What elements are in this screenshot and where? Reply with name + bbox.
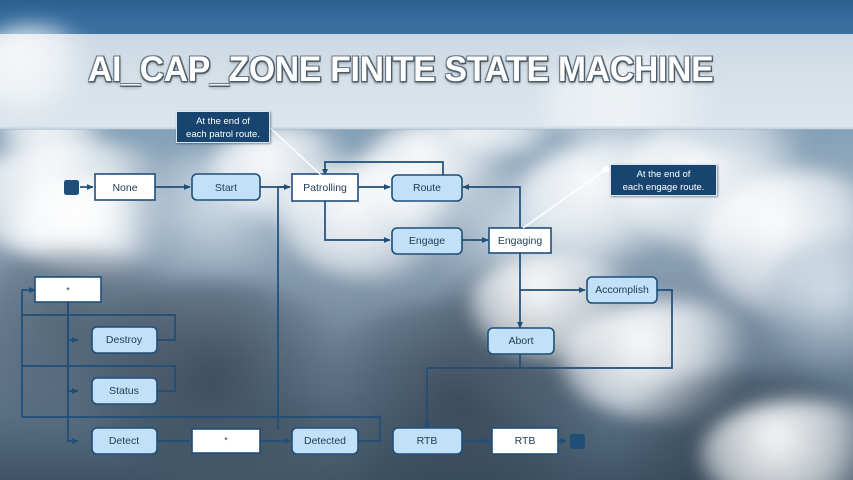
edge-patrolling-left-trunk — [278, 187, 290, 430]
node-label: * — [66, 285, 70, 295]
node-detected[interactable]: Detected — [292, 428, 358, 454]
node-label: Start — [215, 182, 237, 194]
node-any-top[interactable]: * — [35, 277, 101, 302]
node-accomplish[interactable]: Accomplish — [587, 277, 657, 303]
node-label: Accomplish — [595, 284, 649, 296]
edge-any-detect-stub — [68, 301, 78, 441]
node-patrolling[interactable]: Patrolling — [292, 174, 358, 201]
callout-line-1: At the end of — [183, 116, 263, 129]
edge-engaging-route — [463, 187, 520, 228]
node-label: None — [112, 182, 137, 194]
leader-engage — [523, 170, 605, 228]
node-label: RTB — [417, 435, 438, 447]
callout-line-2: each engage route. — [617, 182, 710, 195]
node-label: Detected — [304, 435, 346, 447]
state-machine-diagram: None Start Patrolling Route Engage Engag… — [0, 0, 853, 480]
node-label: RTB — [515, 435, 536, 447]
leader-patrol — [268, 126, 322, 176]
node-label: Engaging — [498, 235, 543, 247]
callout-engage-note[interactable]: At the end of each engage route. — [610, 164, 717, 196]
node-label: * — [224, 435, 228, 445]
node-route[interactable]: Route — [392, 175, 462, 201]
node-label: Engage — [409, 235, 445, 247]
edge-any-destroy-stub — [68, 301, 78, 340]
node-detect[interactable]: Detect — [92, 428, 157, 454]
node-start[interactable]: Start — [192, 174, 260, 200]
edge-route-patrolling — [325, 162, 443, 175]
slide-canvas: AI_CAP_ZONE FINITE STATE MACHINE — [0, 0, 853, 480]
node-destroy[interactable]: Destroy — [92, 327, 157, 353]
node-none[interactable]: None — [95, 174, 155, 200]
node-abort[interactable]: Abort — [488, 328, 554, 354]
node-any-bottom[interactable]: * — [192, 429, 260, 453]
node-label: Route — [413, 182, 441, 194]
node-engage[interactable]: Engage — [392, 228, 462, 254]
node-rtb-blue[interactable]: RTB — [393, 428, 462, 454]
node-label: Detect — [109, 435, 139, 447]
node-status[interactable]: Status — [92, 378, 157, 404]
edge-patrolling-engage — [325, 201, 390, 240]
node-start-terminator[interactable] — [64, 180, 79, 195]
node-rtb-white[interactable]: RTB — [492, 428, 558, 454]
node-end-terminator[interactable] — [570, 434, 585, 449]
leader-dot-engage — [603, 166, 609, 172]
node-label: Patrolling — [303, 182, 347, 194]
callout-line-2: each patrol route. — [183, 129, 263, 142]
node-label: Abort — [508, 335, 533, 347]
callout-line-1: At the end of — [617, 169, 710, 182]
callout-patrol-note[interactable]: At the end of each patrol route. — [176, 111, 270, 143]
node-engaging[interactable]: Engaging — [489, 228, 551, 253]
node-label: Status — [109, 385, 139, 397]
edge-engaging-accomplish — [520, 252, 585, 290]
node-label: Destroy — [106, 334, 143, 346]
